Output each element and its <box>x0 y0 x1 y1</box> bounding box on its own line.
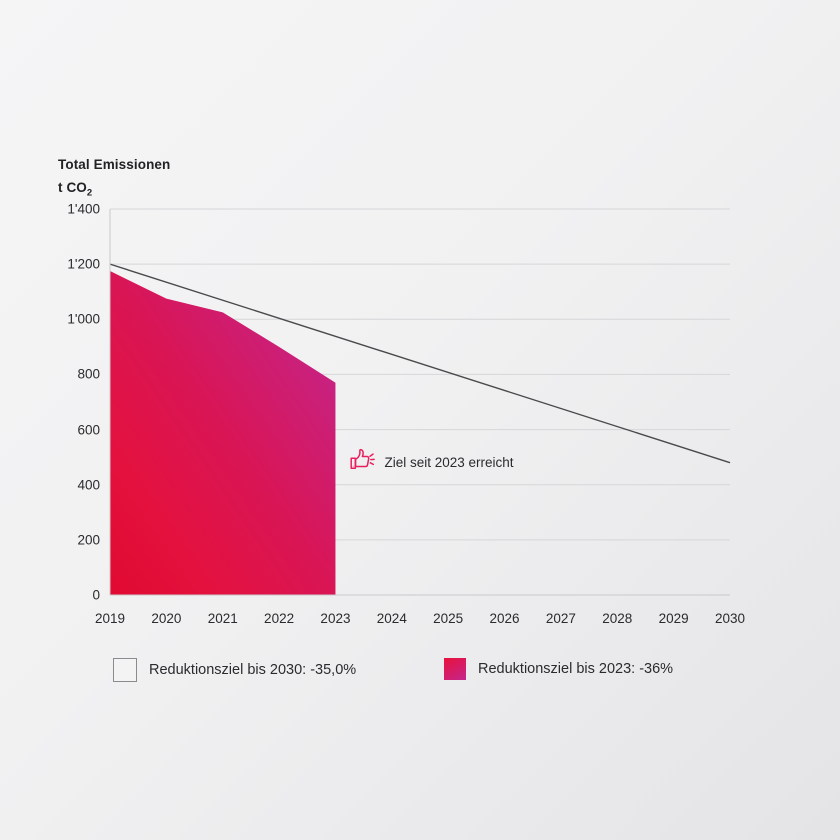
legend-label: Reduktionsziel bis 2023: -36% <box>478 661 673 677</box>
y-axis-unit-label: t CO2 <box>58 180 92 199</box>
x-axis-tick-label: 2022 <box>264 611 294 626</box>
x-axis-tick-label: 2024 <box>377 611 407 626</box>
y-axis-unit-subscript: 2 <box>87 188 92 199</box>
chart-legend: Reduktionsziel bis 2030: -35,0% Reduktio… <box>110 658 730 688</box>
y-axis-tick-label: 1'200 <box>54 257 100 272</box>
y-axis-unit-prefix: t CO <box>58 180 87 195</box>
x-axis-tick-label: 2030 <box>715 611 745 626</box>
y-axis-tick-label: 400 <box>54 477 100 492</box>
x-axis-tick-label: 2023 <box>320 611 350 626</box>
plot-area <box>110 209 730 595</box>
y-axis-tick-label: 0 <box>54 588 100 603</box>
x-axis-tick-label: 2021 <box>208 611 238 626</box>
chart-canvas: Total Emissionen t CO2 02004006008001'00… <box>0 0 840 840</box>
x-axis-tick-label: 2020 <box>151 611 181 626</box>
x-axis-tick-label: 2029 <box>659 611 689 626</box>
x-axis-tick-label: 2026 <box>490 611 520 626</box>
x-axis-tick-label: 2019 <box>95 611 125 626</box>
x-axis-tick-label: 2025 <box>433 611 463 626</box>
y-axis-tick-label: 800 <box>54 367 100 382</box>
legend-swatch-outline <box>113 658 137 682</box>
x-axis-tick-labels: 2019202020212022202320242025202620272028… <box>110 611 730 631</box>
y-axis-tick-label: 200 <box>54 532 100 547</box>
annotation-label: Ziel seit 2023 erreicht <box>384 455 513 470</box>
chart-svg <box>110 209 730 595</box>
y-axis-tick-label: 600 <box>54 422 100 437</box>
y-axis-tick-label: 1'400 <box>54 202 100 217</box>
legend-swatch-filled <box>444 658 466 680</box>
y-axis-tick-label: 1'000 <box>54 312 100 327</box>
goal-reached-annotation: Ziel seit 2023 erreicht <box>350 448 513 477</box>
thumbs-up-icon <box>350 448 375 477</box>
x-axis-tick-label: 2028 <box>602 611 632 626</box>
legend-item-reduktionsziel-2023[interactable]: Reduktionsziel bis 2023: -36% <box>444 658 673 680</box>
x-axis-tick-label: 2027 <box>546 611 576 626</box>
y-axis-tick-labels: 02004006008001'0001'2001'400 <box>50 209 100 595</box>
legend-item-reduktionsziel-2030[interactable]: Reduktionsziel bis 2030: -35,0% <box>113 658 356 682</box>
legend-label: Reduktionsziel bis 2030: -35,0% <box>149 662 356 678</box>
chart-title: Total Emissionen <box>58 157 170 172</box>
